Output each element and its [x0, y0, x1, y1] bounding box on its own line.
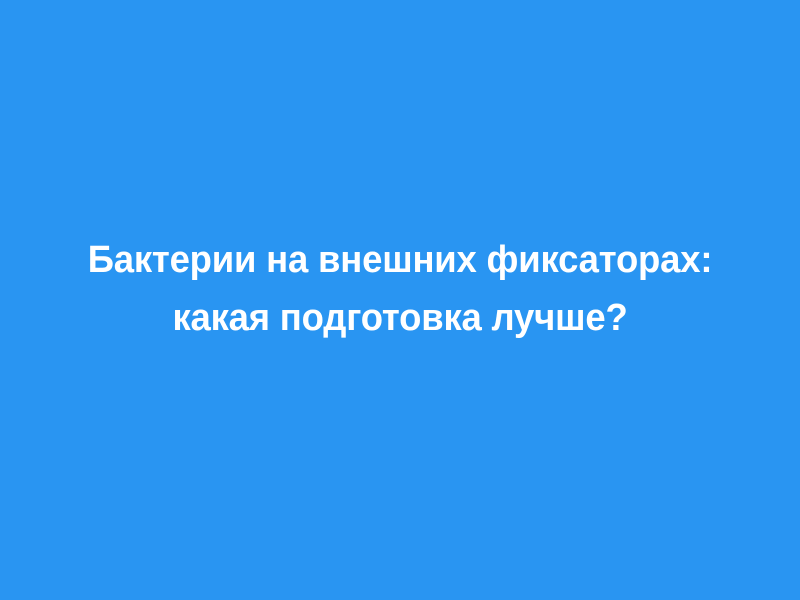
title-card: Бактерии на внешних фиксаторах: какая по…: [0, 0, 800, 600]
headline-line-1: Бактерии на внешних фиксаторах:: [54, 231, 745, 289]
headline-line-2: какая подготовка лучше?: [54, 289, 745, 347]
page-title: Бактерии на внешних фиксаторах: какая по…: [54, 231, 745, 347]
headline-block: Бактерии на внешних фиксаторах: какая по…: [0, 231, 800, 347]
